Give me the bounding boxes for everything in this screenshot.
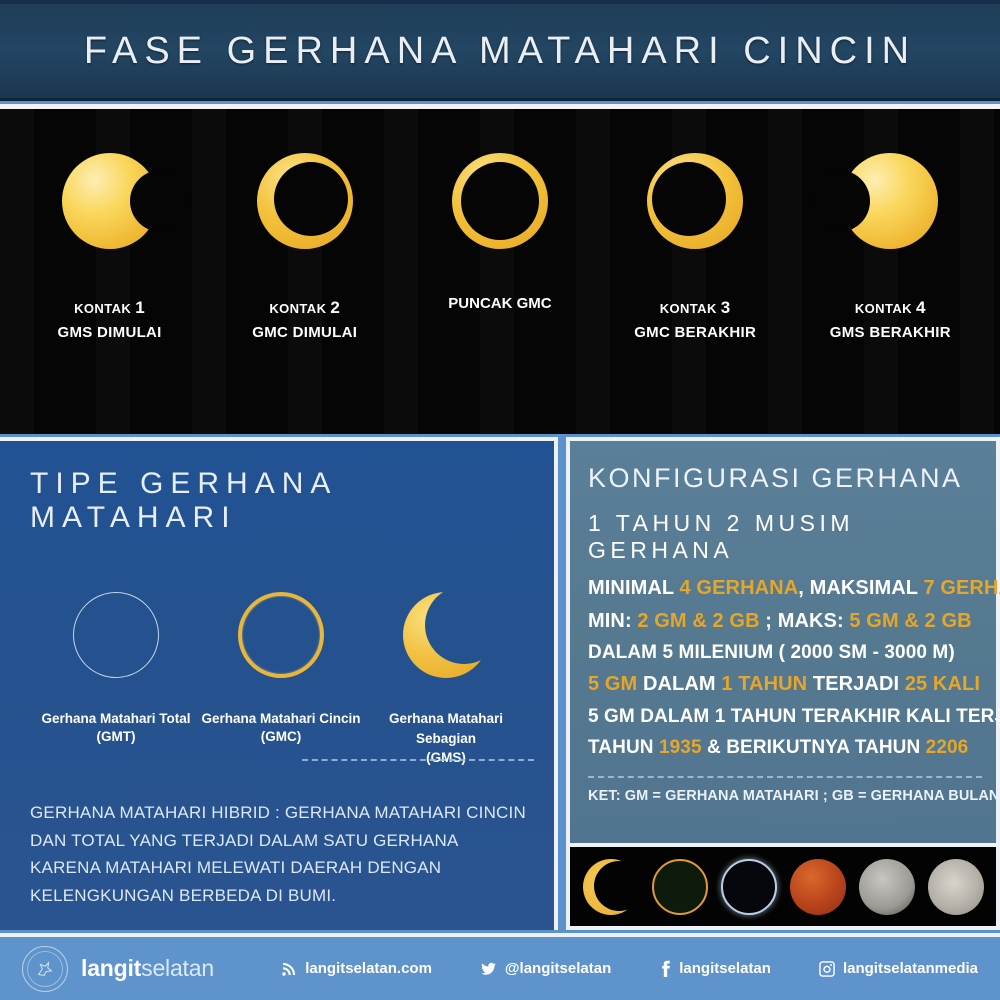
type-abbr-label: (GMS) [366,750,526,765]
social-facebook[interactable]: langitselatan [659,960,771,977]
type-name-label: Gerhana Matahari Sebagian [366,709,526,750]
thumb-bulan-purnama [928,859,984,915]
phase-kontak-label: KONTAK 3 [605,295,785,321]
social-facebook-label: langitselatan [679,960,771,977]
brand-wordmark: langitselatan [81,955,214,982]
phase-desc-label: GMS DIMULAI [20,321,200,344]
config-line-min-maks: MIN: 2 GM & 2 GB ; MAKS: 5 GM & 2 GB [588,607,982,637]
infographic-root: FASE GERHANA MATAHARI CINCIN KONTAK 1 GM… [0,0,1000,1000]
twitter-icon [480,961,497,977]
type-name-label: Gerhana Matahari Cincin [201,709,361,729]
facebook-icon [659,960,671,977]
eclipse-photo-strip [566,843,1000,930]
phase-art-sun-bitten-right [20,121,200,281]
phase-item-kontak-1: KONTAK 1 GMS DIMULAI [20,109,200,345]
phase-art-ring-even [410,121,590,281]
right-panel-title: KONFIGURASI GERHANA [588,463,982,494]
left-panel-divider [302,759,534,761]
phase-art-sun-bitten-left [800,121,980,281]
type-abbr-label: (GMT) [36,729,196,744]
phase-item-kontak-2: KONTAK 2 GMC DIMULAI [215,109,395,345]
social-links: langitselatan.com @langitselatan langits… [233,960,978,977]
config-line-milenium: DALAM 5 MILENIUM ( 2000 SM - 3000 M) [588,639,982,667]
thumb-gerhana-matahari-cincin [652,859,708,915]
type-name-label: Gerhana Matahari Total [36,709,196,729]
phase-item-kontak-3: KONTAK 3 GMC BERAKHIR [605,109,785,345]
phase-kontak-label: KONTAK 1 [20,295,200,321]
type-abbr-label: (GMC) [201,729,361,744]
hybrid-eclipse-description: GERHANA MATAHARI HIBRID : GERHANA MATAHA… [30,799,530,909]
type-item-gms: Gerhana Matahari Sebagian (GMS) [366,575,526,765]
type-art-ring-gold [201,575,361,695]
phase-kontak-label: KONTAK 2 [215,295,395,321]
phase-item-puncak: PUNCAK GMC [410,109,590,312]
footer-bar: langitselatan langitselatan.com [0,933,1000,1000]
social-website-label: langitselatan.com [305,960,432,977]
type-item-gmt: Gerhana Matahari Total (GMT) [36,575,196,765]
eclipse-types-panel: TIPE GERHANA MATAHARI Gerhana Matahari T… [0,437,558,930]
phase-desc-label: GMC DIMULAI [215,321,395,344]
right-panel-divider [588,776,982,778]
config-line-terakhir-2: TAHUN 1935 & BERIKUTNYA TAHUN 2206 [588,734,982,762]
type-item-gmc: Gerhana Matahari Cincin (GMC) [201,575,361,765]
left-panel-title: TIPE GERHANA MATAHARI [30,467,532,535]
phase-desc-label: GMC BERAKHIR [605,321,785,344]
legend-text: KET: GM = GERHANA MATAHARI ; GB = GERHAN… [588,788,982,804]
langitselatan-logo-icon [22,946,68,992]
social-instagram[interactable]: langitselatanmedia [819,960,978,977]
page-title: FASE GERHANA MATAHARI CINCIN [84,30,916,73]
eclipse-configuration-panel: KONFIGURASI GERHANA 1 TAHUN 2 MUSIM GERH… [566,437,1000,843]
thumb-gerhana-matahari-sebagian [583,859,639,915]
phase-kontak-label: KONTAK 4 [800,295,980,321]
thumb-gerhana-bulan-sebagian [859,859,915,915]
config-headline: 1 TAHUN 2 MUSIM GERHANA [588,510,982,564]
thumb-gerhana-matahari-total [721,859,777,915]
social-instagram-label: langitselatanmedia [843,960,978,977]
social-twitter-label: @langitselatan [505,960,611,977]
rss-icon [281,961,297,977]
type-art-crescent-gold [366,575,526,695]
config-line-5gm-frequency: 5 GM DALAM 1 TAHUN TERJADI 25 KALI [588,670,982,700]
social-twitter[interactable]: @langitselatan [480,960,611,977]
phase-art-ring-thick-left [215,121,395,281]
thumb-gerhana-bulan-total [790,859,846,915]
social-website[interactable]: langitselatan.com [281,960,432,977]
phase-desc-label: GMS BERAKHIR [800,321,980,344]
config-line-terakhir-1: 5 GM DALAM 1 TAHUN TERAKHIR KALI TERJADI [588,703,982,731]
header-bar: FASE GERHANA MATAHARI CINCIN [0,0,1000,101]
phase-art-ring-thick-right [605,121,785,281]
type-art-ring-white-thin [36,575,196,695]
phase-desc-label: PUNCAK GMC [410,295,590,312]
eclipse-phases-section: KONTAK 1 GMS DIMULAI KONTAK 2 GMC DIMULA… [0,104,1000,434]
instagram-icon [819,961,835,977]
config-line-minimal: MINIMAL 4 GERHANA, MAKSIMAL 7 GERHANA [588,574,982,604]
phase-item-kontak-4: KONTAK 4 GMS BERAKHIR [800,109,980,345]
